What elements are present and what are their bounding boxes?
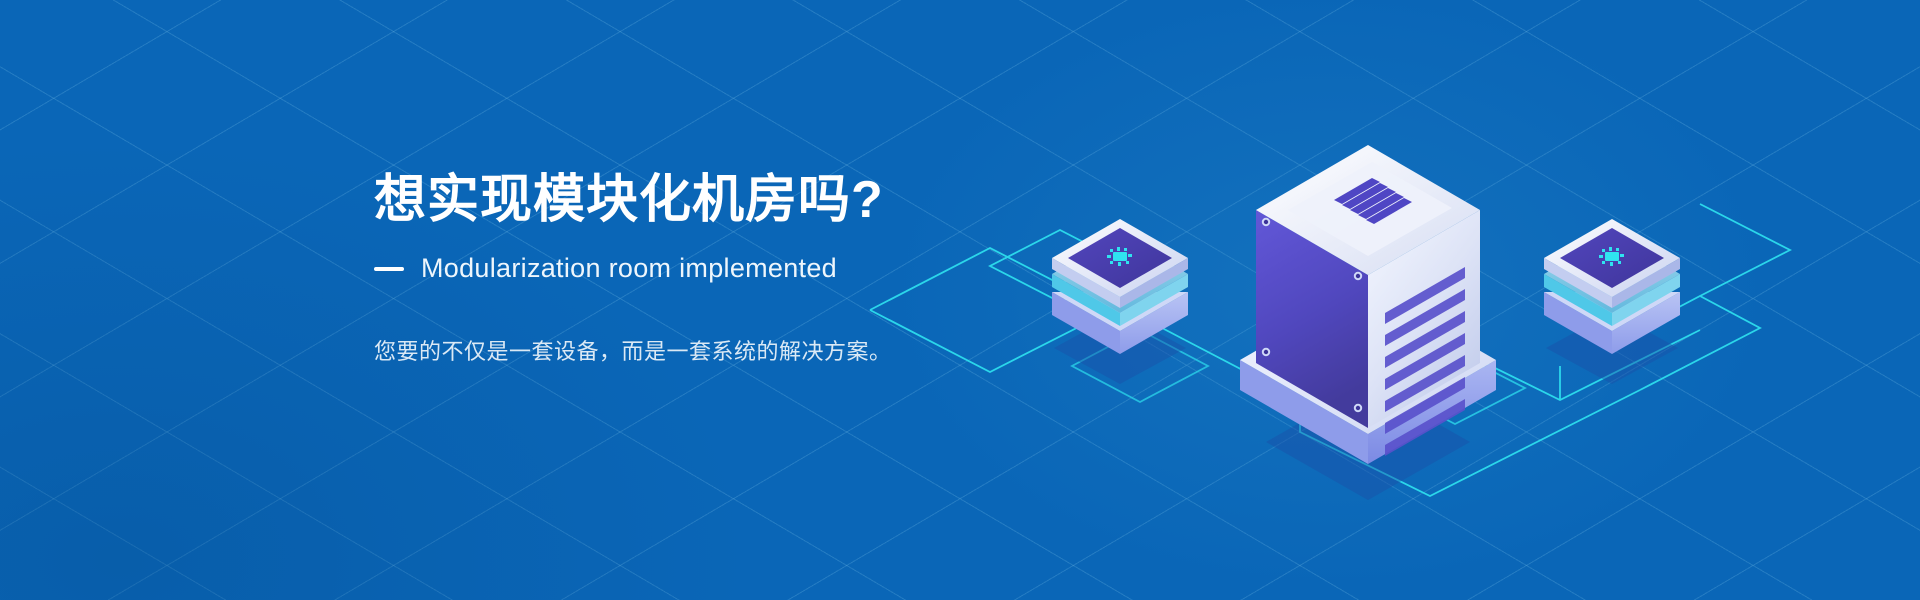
- page-subtitle: Modularization room implemented: [421, 253, 837, 284]
- hero-banner: 想实现模块化机房吗? Modularization room implement…: [0, 0, 1920, 600]
- chip-module-left: [1052, 219, 1188, 354]
- dash-accent-icon: [374, 267, 404, 271]
- isometric-server-rack-illustration: [1000, 60, 1900, 540]
- chip-module-right: [1544, 219, 1680, 354]
